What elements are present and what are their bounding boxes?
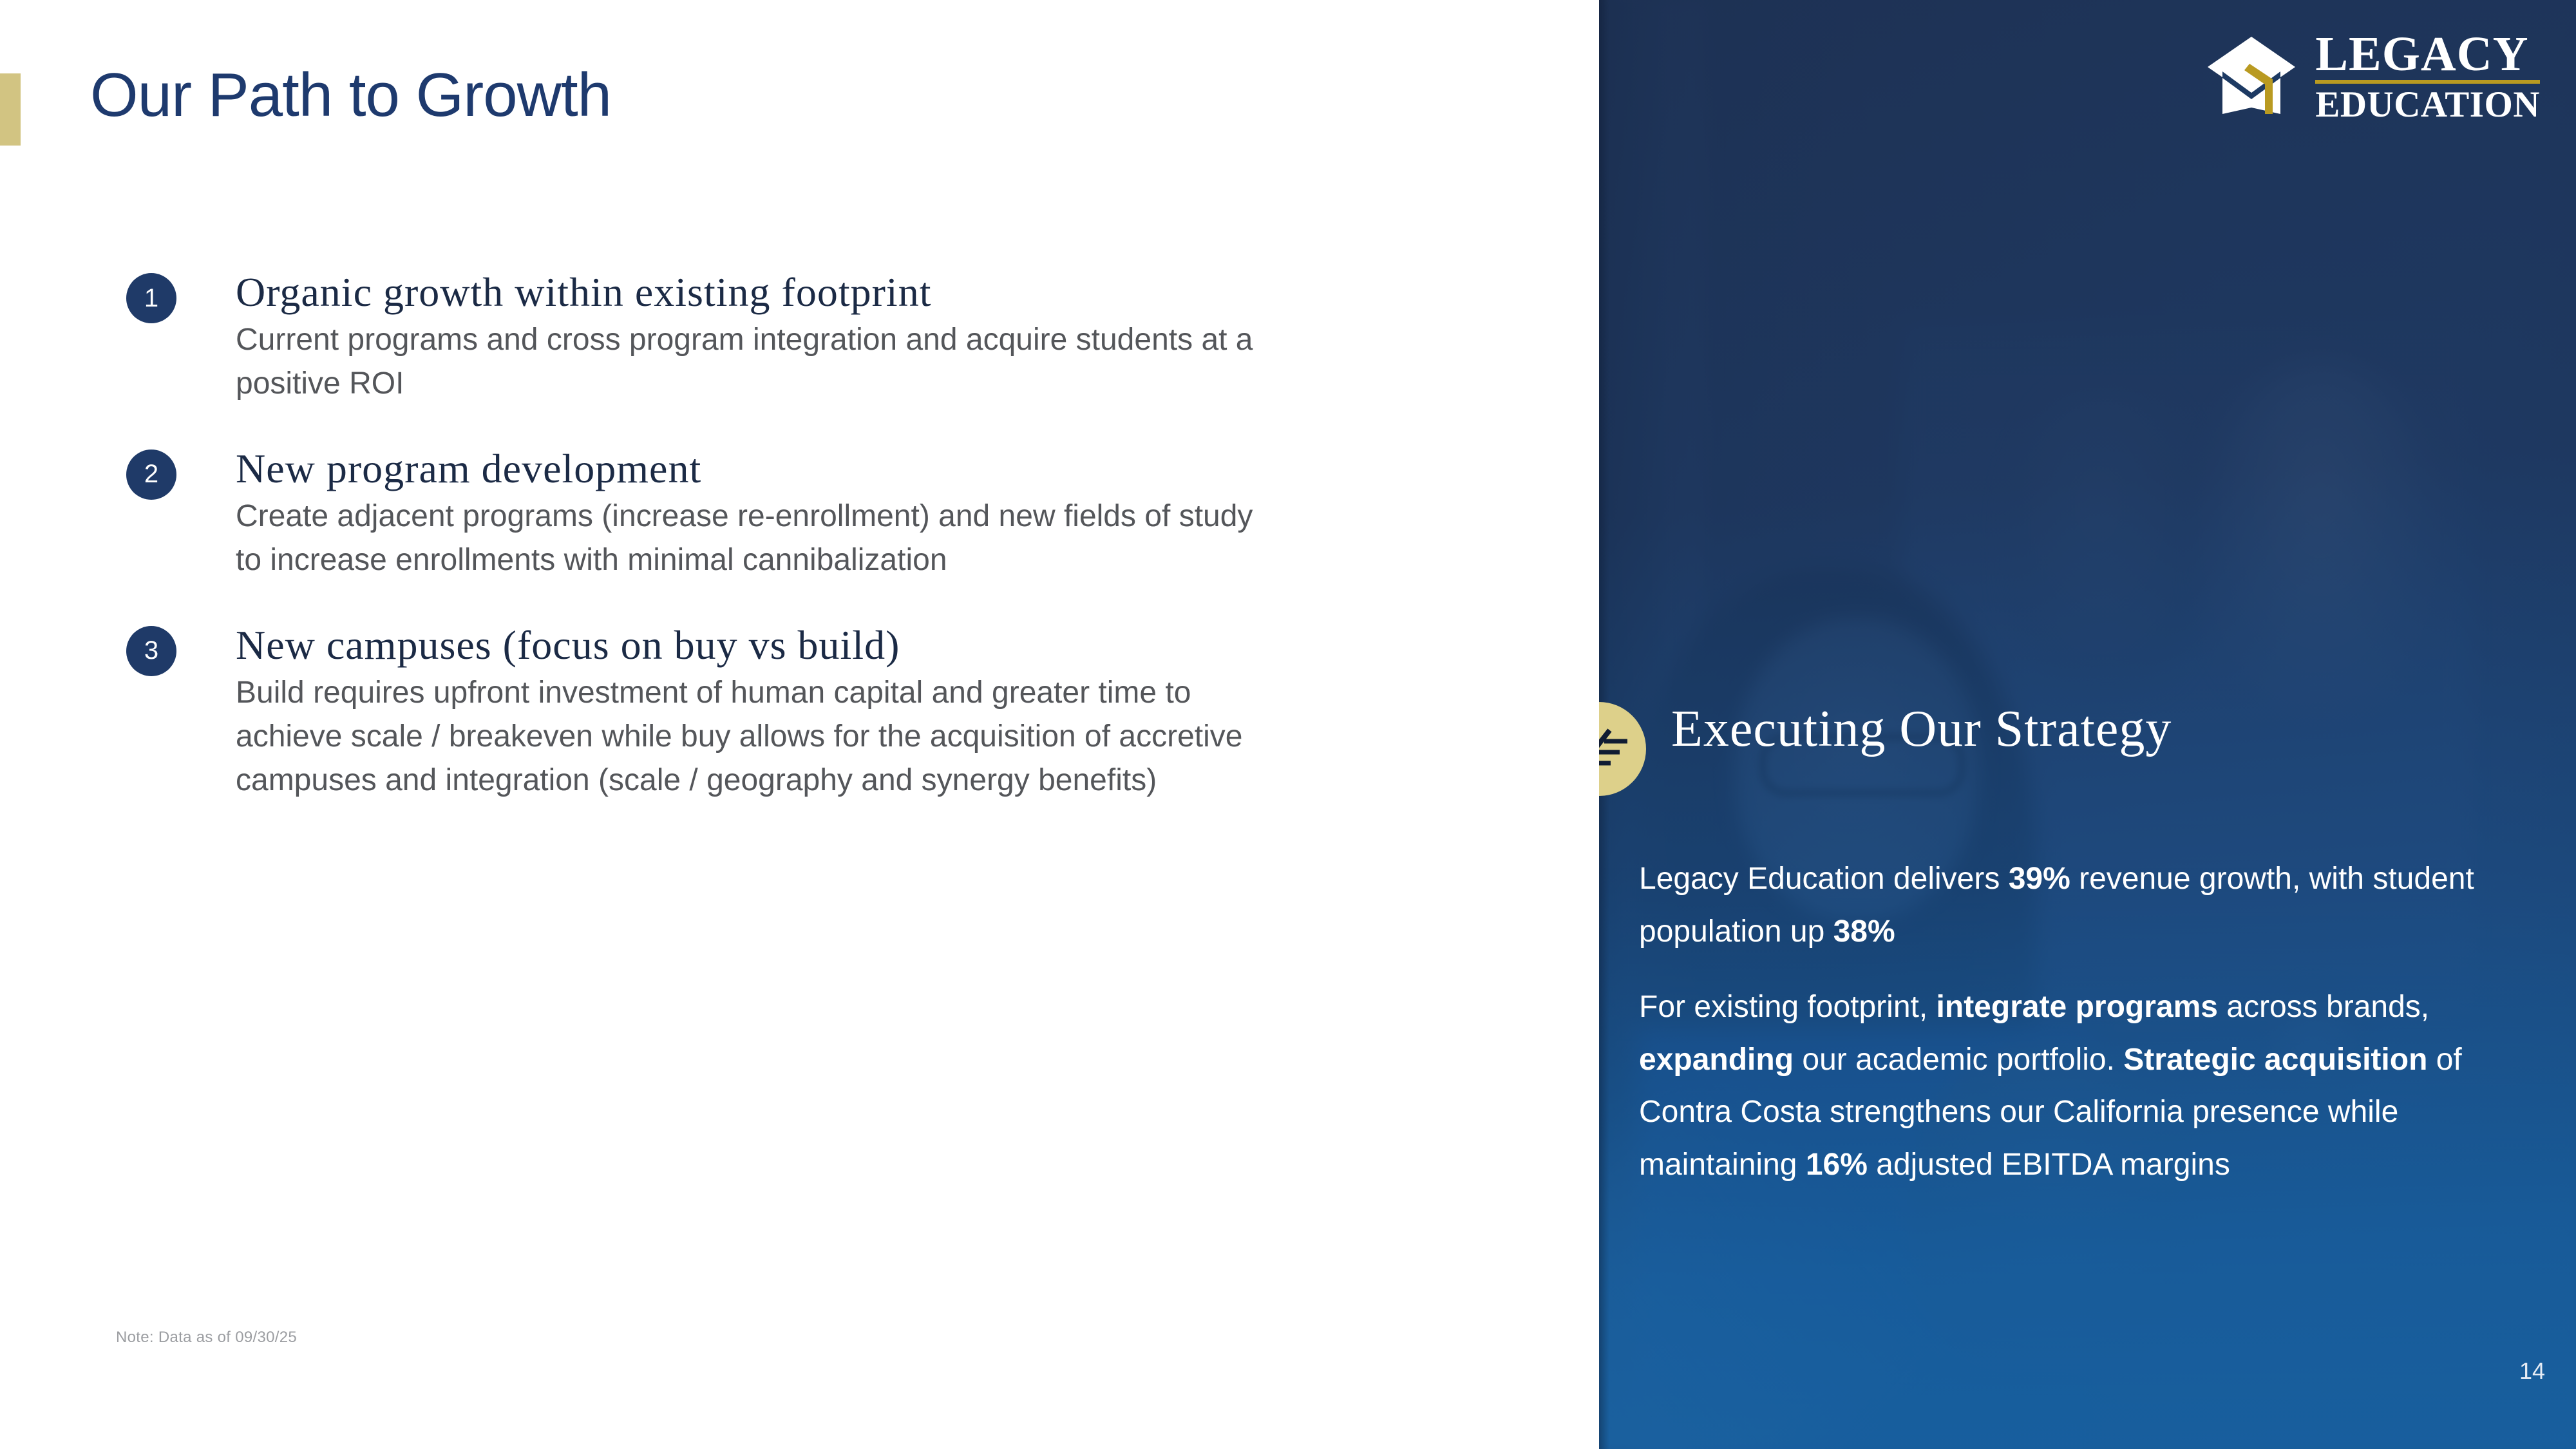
logo-line-1: LEGACY xyxy=(2315,30,2540,79)
page-number: 14 xyxy=(2519,1358,2545,1385)
panel-heading: Executing Our Strategy xyxy=(1671,701,2172,757)
point-heading: New program development xyxy=(236,446,1260,492)
footnote: Note: Data as of 09/30/25 xyxy=(116,1329,297,1347)
point-body: New program development Create adjacent … xyxy=(236,446,1260,582)
panel-paragraph: For existing footprint, integrate progra… xyxy=(1639,981,2534,1191)
point-number-badge: 3 xyxy=(126,626,176,676)
checklist-icon xyxy=(1599,723,1630,775)
legacy-education-logo: LEGACY EDUCATION xyxy=(2203,30,2540,123)
point-number-badge: 2 xyxy=(126,450,176,500)
logo-wordmark: LEGACY EDUCATION xyxy=(2315,30,2540,123)
slide-canvas: Our Path to Growth 1 Organic growth with… xyxy=(0,0,2576,1449)
logo-divider xyxy=(2315,80,2540,84)
point-description: Create adjacent programs (increase re-en… xyxy=(236,495,1260,582)
growth-points-list: 1 Organic growth within existing footpri… xyxy=(126,269,1260,842)
logo-line-2: EDUCATION xyxy=(2315,86,2540,123)
strategy-panel: LEGACY EDUCATION Executing Our Strategy … xyxy=(1599,0,2576,1449)
point-number-badge: 1 xyxy=(126,273,176,323)
list-item: 2 New program development Create adjacen… xyxy=(126,446,1260,582)
list-item: 3 New campuses (focus on buy vs build) B… xyxy=(126,622,1260,802)
graduation-cap-icon xyxy=(2203,32,2300,122)
panel-paragraph: Legacy Education delivers 39% revenue gr… xyxy=(1639,853,2534,958)
point-heading: Organic growth within existing footprint xyxy=(236,269,1260,316)
list-item: 1 Organic growth within existing footpri… xyxy=(126,269,1260,406)
point-body: Organic growth within existing footprint… xyxy=(236,269,1260,406)
panel-body-text: Legacy Education delivers 39% revenue gr… xyxy=(1639,853,2534,1215)
point-body: New campuses (focus on buy vs build) Bui… xyxy=(236,622,1260,802)
point-description: Current programs and cross program integ… xyxy=(236,318,1260,406)
point-heading: New campuses (focus on buy vs build) xyxy=(236,622,1260,668)
page-title: Our Path to Growth xyxy=(90,62,611,129)
title-accent-bar xyxy=(0,73,21,146)
point-description: Build requires upfront investment of hum… xyxy=(236,671,1260,802)
